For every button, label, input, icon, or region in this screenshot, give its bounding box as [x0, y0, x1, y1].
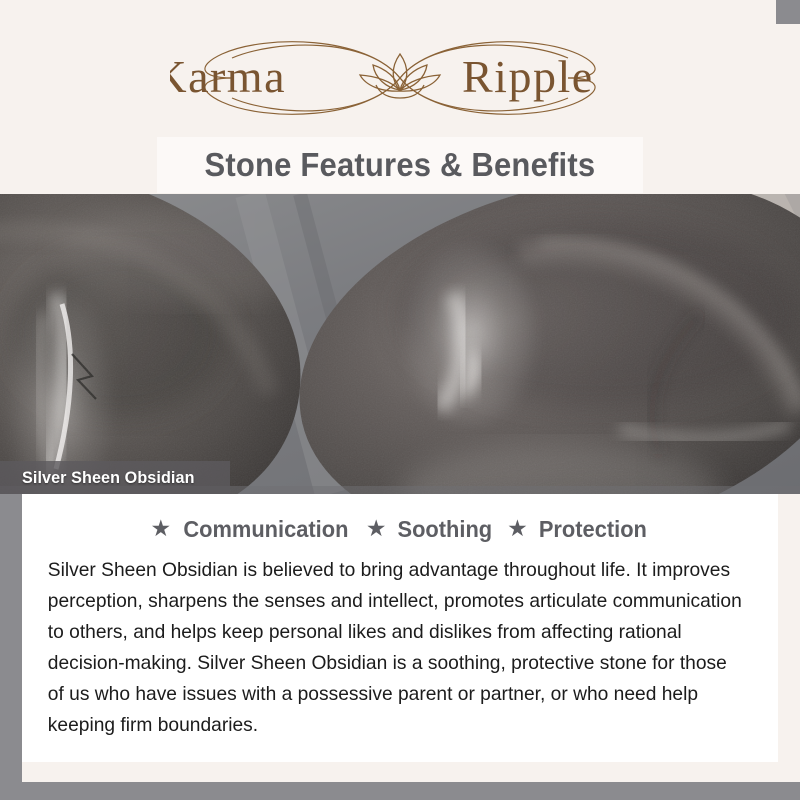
stone-description: Silver Sheen Obsidian is believed to bri… [34, 555, 755, 741]
star-icon: ★ [507, 517, 528, 540]
logo-svg: Karma Ripple [170, 28, 630, 128]
photo-caption: Silver Sheen Obsidian [0, 461, 230, 494]
corner-wedge-bottom [0, 782, 800, 800]
benefit-label: Communication [183, 516, 348, 543]
corner-wedge-left [0, 490, 22, 800]
brand-logo: Karma Ripple [0, 22, 800, 134]
stone-photo: Silver Sheen Obsidian [0, 194, 800, 494]
photo-caption-label: Silver Sheen Obsidian [22, 468, 195, 488]
benefits-list: ★ Communication ★ Soothing ★ Protection [34, 516, 766, 543]
page-title: Stone Features & Benefits [205, 146, 596, 184]
corner-wedge-top-right [776, 0, 800, 24]
stone-photo-svg [0, 194, 800, 494]
lotus-flower-icon [360, 54, 440, 98]
star-icon: ★ [150, 517, 171, 540]
brand-name-left: Karma [170, 51, 286, 102]
brand-name-right: Ripple [462, 51, 594, 102]
benefit-label: Protection [539, 516, 647, 543]
benefit-item-communication: ★ Communication [150, 516, 352, 543]
benefit-item-soothing: ★ Soothing [366, 516, 494, 543]
content-panel: ★ Communication ★ Soothing ★ Protection … [22, 494, 778, 762]
benefit-label: Soothing [397, 516, 492, 543]
page-title-banner: Stone Features & Benefits [157, 137, 643, 193]
star-icon: ★ [366, 517, 387, 540]
benefit-item-protection: ★ Protection [507, 516, 649, 543]
page-root: Karma Ripple Stone Features & Benefits [0, 0, 800, 800]
